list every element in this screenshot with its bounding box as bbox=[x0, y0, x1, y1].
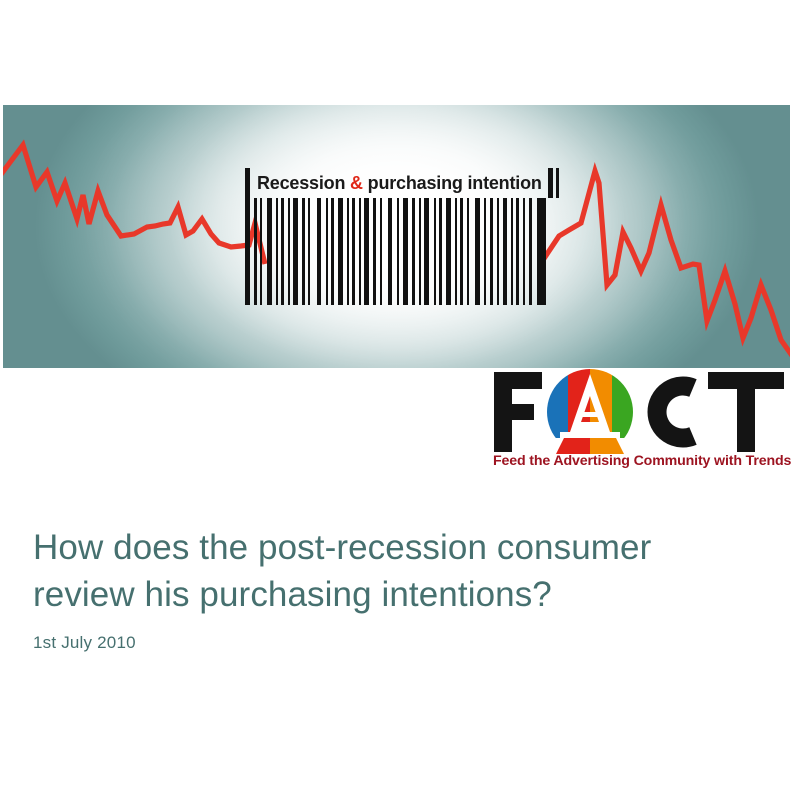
hero-banner: Recession & purchasing intention bbox=[3, 105, 790, 368]
logo-letter-f bbox=[494, 372, 542, 452]
barcode-caption-ampersand: & bbox=[350, 173, 363, 193]
barcode-caption-row: Recession & purchasing intention bbox=[245, 168, 555, 198]
barcode-caption-text-part2: purchasing intention bbox=[363, 173, 542, 193]
barcode-caption-right-rule bbox=[548, 168, 553, 198]
logo-letter-c bbox=[657, 386, 693, 438]
barcode-bars bbox=[245, 198, 555, 305]
fact-logo: Feed the Advertising Community with Tren… bbox=[492, 368, 792, 480]
barcode-caption-text-part1: Recession bbox=[257, 173, 350, 193]
trend-line-left bbox=[3, 145, 265, 264]
title-block: How does the post-recession consumer rev… bbox=[33, 524, 753, 653]
page-title: How does the post-recession consumer rev… bbox=[33, 524, 753, 619]
barcode-caption-right-rule-thin bbox=[556, 168, 559, 198]
page-date: 1st July 2010 bbox=[33, 633, 753, 653]
trend-line-right bbox=[543, 171, 790, 357]
fact-tagline: Feed the Advertising Community with Tren… bbox=[493, 454, 793, 470]
barcode-graphic: Recession & purchasing intention bbox=[245, 168, 555, 305]
barcode-caption-text: Recession & purchasing intention bbox=[250, 174, 548, 192]
logo-letter-t bbox=[708, 372, 784, 452]
fact-wordmark bbox=[492, 368, 792, 456]
